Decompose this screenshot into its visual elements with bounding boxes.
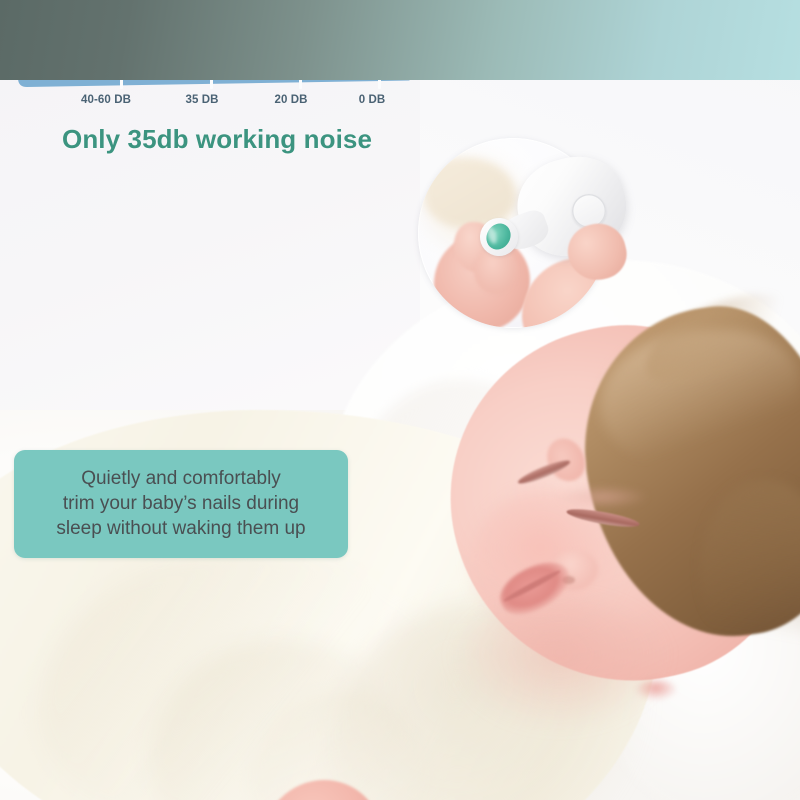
- caption-line-1: Quietly and comfortably: [28, 466, 334, 491]
- baby-brow: [556, 486, 648, 508]
- caption-line-2: trim your baby’s nails during: [28, 491, 334, 516]
- product-marketing-image: Safely Grinds Your Babys Nails 40-60 DB …: [0, 0, 800, 800]
- db-label-2: 35 DB: [185, 94, 218, 106]
- db-label-4: 0 DB: [359, 94, 386, 106]
- baby-photo: [0, 80, 800, 800]
- header-banner: [0, 0, 800, 80]
- caption-box: Quietly and comfortably trim your baby’s…: [14, 450, 348, 558]
- nail-trimmer-device: [518, 158, 630, 258]
- baby-chin-shadow: [450, 600, 670, 730]
- baby-lower-lip: [635, 680, 677, 700]
- noise-headline: Only 35db working noise: [62, 124, 372, 155]
- db-label-3: 20 DB: [274, 94, 307, 106]
- caption-line-3: sleep without waking them up: [28, 516, 334, 541]
- db-label-1: 40-60 DB: [81, 94, 131, 106]
